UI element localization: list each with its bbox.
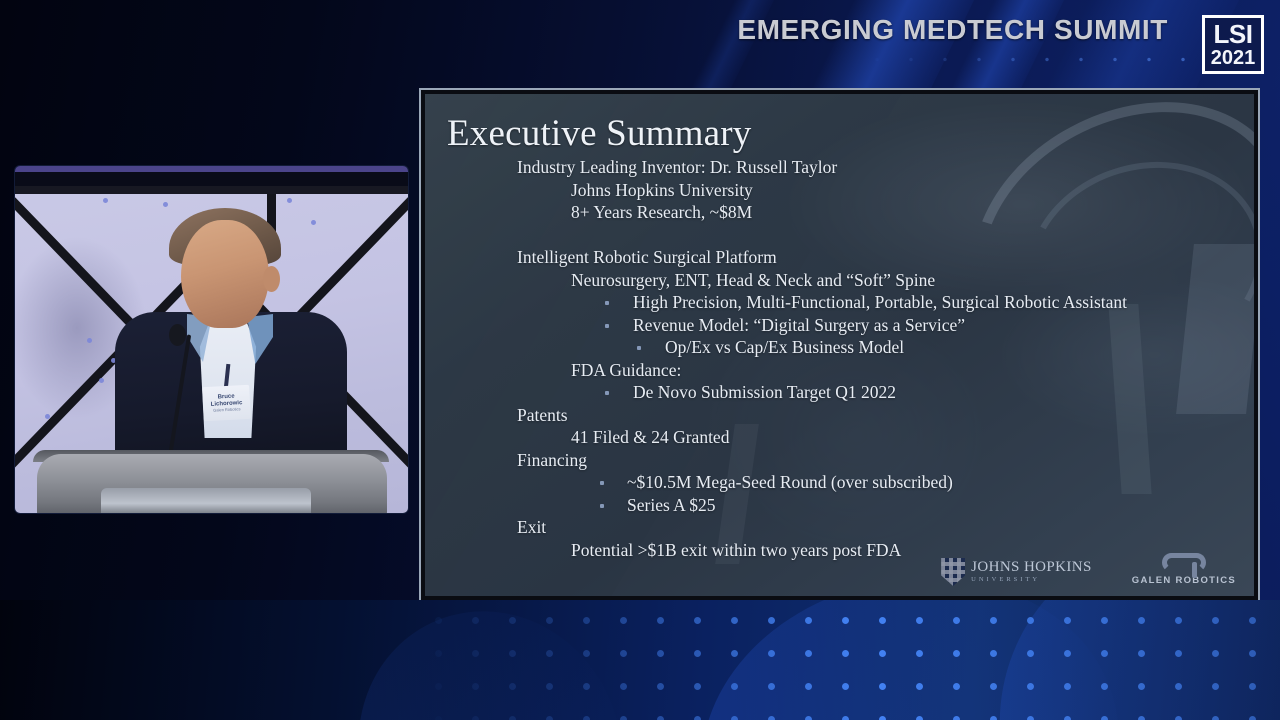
presentation-slide: Executive Summary Industry Leading Inven…: [425, 94, 1254, 596]
stage-led: [45, 414, 50, 419]
background-bottom-pane: [0, 600, 1280, 720]
stage-led: [163, 202, 168, 207]
slide-line-text: High Precision, Multi-Functional, Portab…: [633, 292, 1127, 312]
jhu-logo-main: JOHNS HOPKINS: [971, 560, 1092, 576]
stage-led: [287, 198, 292, 203]
truss-top-rail: [15, 186, 408, 194]
podium-panel: [101, 488, 311, 513]
lsi-logo-main: LSI: [1214, 21, 1253, 47]
slide-line-text: Johns Hopkins University: [571, 180, 753, 200]
slide-line-text: Neurosurgery, ENT, Head & Neck and “Soft…: [571, 270, 935, 290]
galen-logo-text: GALEN ROBOTICS: [1132, 575, 1236, 586]
truss-accent-strip: [15, 166, 408, 172]
slide-line-text: Financing: [517, 450, 587, 470]
slide-line-text: Revenue Model: “Digital Surgery as a Ser…: [633, 315, 965, 335]
slide-line-text: FDA Guidance:: [571, 360, 681, 380]
slide-bullet-line: 41 Filed & 24 Granted: [425, 426, 1254, 449]
slide-line-text: Intelligent Robotic Surgical Platform: [517, 247, 777, 267]
slide-body: Industry Leading Inventor: Dr. Russell T…: [425, 156, 1254, 561]
slide-bullet-line: Financing: [425, 449, 1254, 472]
slide-bullet-line: Op/Ex vs Cap/Ex Business Model: [425, 336, 1254, 359]
slide-bullet-line: Patents: [425, 404, 1254, 427]
slide-line-text: 41 Filed & 24 Granted: [571, 427, 729, 447]
bullet-icon: [600, 481, 604, 485]
slide-bullet-line: Neurosurgery, ENT, Head & Neck and “Soft…: [425, 269, 1254, 292]
bullet-icon: [605, 301, 609, 305]
stage-led: [87, 338, 92, 343]
slide-logo-row: JOHNS HOPKINS UNIVERSITY GALEN ROBOTICS: [941, 553, 1236, 586]
badge-organization: Galen Robotics: [213, 407, 241, 413]
summit-title: EMERGING MEDTECH SUMMIT: [737, 14, 1168, 46]
speaker-head: [181, 220, 269, 328]
speaker-name-badge: Bruce Lichorowic Galen Robotics: [202, 385, 251, 421]
bullet-icon: [637, 346, 641, 350]
broadcast-stage: EMERGING MEDTECH SUMMIT LSI 2021: [0, 0, 1280, 720]
speaker-video-panel[interactable]: Bruce Lichorowic Galen Robotics: [15, 166, 408, 513]
slide-bullet-line: Johns Hopkins University: [425, 179, 1254, 202]
galen-ring-icon: [1162, 553, 1206, 572]
johns-hopkins-logo: JOHNS HOPKINS UNIVERSITY: [941, 558, 1092, 586]
shield-icon: [941, 558, 965, 586]
stage-led: [103, 198, 108, 203]
lsi-logo-year: 2021: [1211, 48, 1256, 68]
slide-bullet-line: High Precision, Multi-Functional, Portab…: [425, 291, 1254, 314]
slide-spacer-line: [425, 224, 1254, 247]
slide-bullet-line: Revenue Model: “Digital Surgery as a Ser…: [425, 314, 1254, 337]
slide-bullet-line: FDA Guidance:: [425, 359, 1254, 382]
bullet-icon: [605, 324, 609, 328]
slide-bullet-line: Intelligent Robotic Surgical Platform: [425, 246, 1254, 269]
speaker-figure: Bruce Lichorowic Galen Robotics: [103, 214, 353, 469]
event-header: EMERGING MEDTECH SUMMIT LSI 2021: [0, 0, 1280, 88]
microphone-icon: [169, 324, 186, 346]
bullet-icon: [600, 504, 604, 508]
slide-line-text: Potential >$1B exit within two years pos…: [571, 540, 901, 560]
johns-hopkins-wordmark: JOHNS HOPKINS UNIVERSITY: [971, 560, 1092, 585]
jhu-logo-sub: UNIVERSITY: [971, 577, 1092, 584]
speaker-video-frame: Bruce Lichorowic Galen Robotics: [15, 166, 408, 513]
slide-bullet-line: Exit: [425, 516, 1254, 539]
bullet-icon: [605, 391, 609, 395]
presentation-slide-frame[interactable]: Executive Summary Industry Leading Inven…: [419, 88, 1260, 602]
slide-line-text: 8+ Years Research, ~$8M: [571, 202, 752, 222]
slide-bullet-line: 8+ Years Research, ~$8M: [425, 201, 1254, 224]
slide-line-text: Op/Ex vs Cap/Ex Business Model: [665, 337, 904, 357]
slide-line-text: De Novo Submission Target Q1 2022: [633, 382, 896, 402]
slide-bullet-line: ~$10.5M Mega-Seed Round (over subscribed…: [425, 471, 1254, 494]
lsi-logo: LSI 2021: [1202, 15, 1264, 74]
slide-title: Executive Summary: [447, 112, 751, 155]
slide-bullet-line: Series A $25: [425, 494, 1254, 517]
slide-bullet-line: Industry Leading Inventor: Dr. Russell T…: [425, 156, 1254, 179]
background-dot-grid: [420, 604, 1280, 720]
slide-line-text: Exit: [517, 517, 546, 537]
slide-line-text: Series A $25: [627, 495, 715, 515]
slide-bullet-line: De Novo Submission Target Q1 2022: [425, 381, 1254, 404]
slide-line-text: Industry Leading Inventor: Dr. Russell T…: [517, 157, 837, 177]
galen-robotics-logo: GALEN ROBOTICS: [1132, 553, 1236, 586]
slide-line-text: Patents: [517, 405, 568, 425]
slide-line-text: ~$10.5M Mega-Seed Round (over subscribed…: [627, 472, 953, 492]
speaker-ear: [263, 266, 280, 292]
